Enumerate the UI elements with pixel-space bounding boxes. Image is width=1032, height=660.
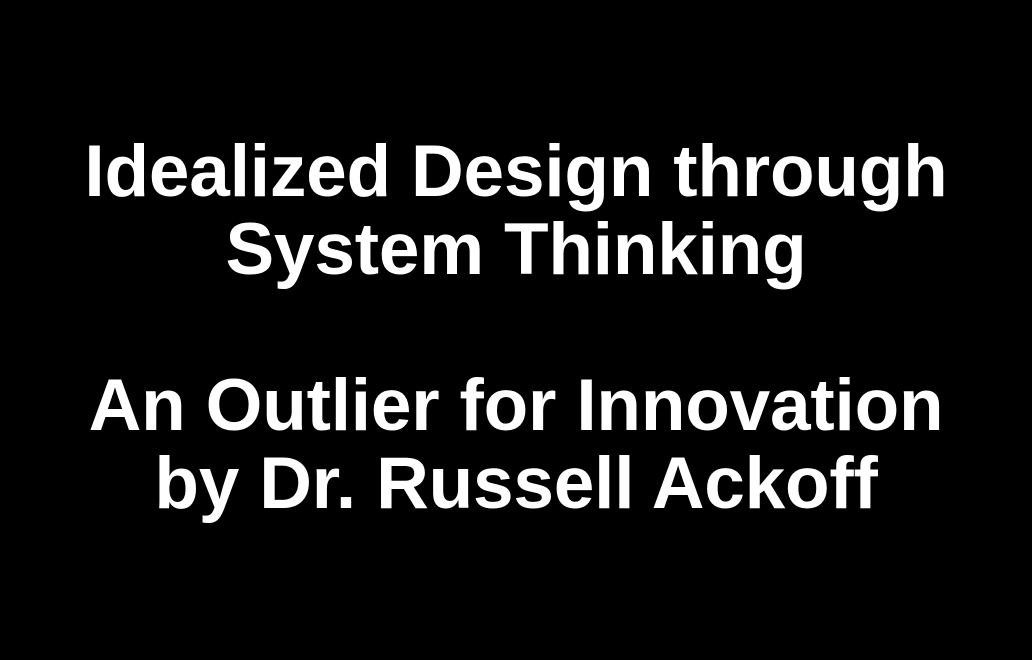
subtitle-line-2: by Dr. Russell Ackoff — [0, 445, 1032, 523]
subtitle-line-1: An Outlier for Innovation — [0, 367, 1032, 445]
title-block: Idealized Design through System Thinking — [0, 133, 1032, 289]
slide-content: Idealized Design through System Thinking… — [0, 133, 1032, 523]
title-line-2: System Thinking — [0, 211, 1032, 289]
subtitle-block: An Outlier for Innovation by Dr. Russell… — [0, 367, 1032, 523]
title-slide: Idealized Design through System Thinking… — [0, 0, 1032, 660]
block-spacer — [0, 289, 1032, 367]
title-line-1: Idealized Design through — [0, 133, 1032, 211]
